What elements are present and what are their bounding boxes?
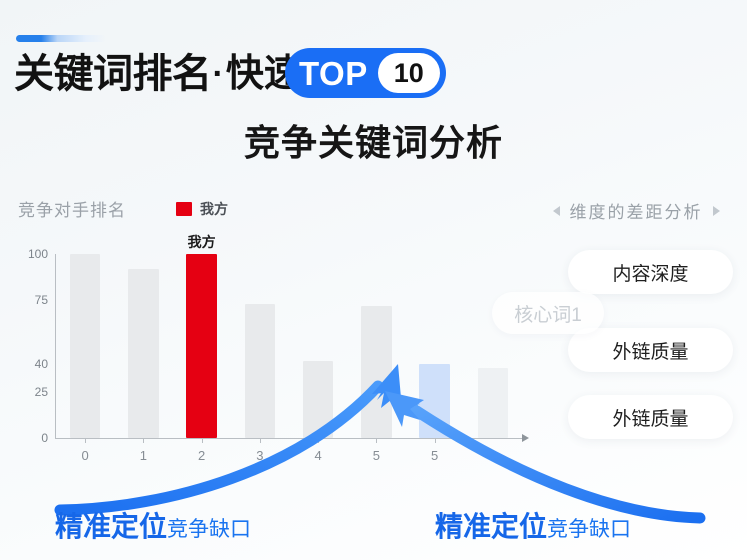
header-title-row: 关键词排名 · 快速	[14, 46, 302, 102]
caption-right: 精准定位 竞争缺口	[435, 505, 631, 545]
header-title-separator: ·	[213, 55, 224, 94]
dimension-pill-label: 外链质量	[612, 337, 688, 364]
x-axis-tick	[376, 438, 377, 443]
header-accent-bar	[16, 35, 106, 42]
y-axis-tick-label: 100	[14, 247, 48, 261]
top-badge-number: 10	[378, 53, 440, 93]
legend-item-label: 我方	[200, 199, 228, 219]
caption-left-weak: 竞争缺口	[167, 513, 251, 543]
dimension-pill-backlink-quality-1[interactable]: 外链质量	[568, 328, 733, 372]
chart-bar	[70, 254, 100, 438]
page-title: 竞争关键词分析	[0, 114, 747, 166]
chart-legend: 竞争对手排名 我方	[18, 196, 228, 221]
y-axis-labels: 0254075100	[12, 248, 48, 438]
x-axis-tick	[143, 438, 144, 443]
x-axis-arrow-icon	[522, 434, 529, 442]
dimension-gap-title: 维度的差距分析	[570, 198, 703, 223]
y-axis-tick-label: 40	[14, 357, 48, 371]
chart-bar	[361, 306, 391, 438]
header-title-main: 关键词排名	[14, 54, 212, 94]
y-axis-tick-label: 25	[14, 385, 48, 399]
x-axis-tick-label: 3	[256, 448, 263, 463]
highlighted-bar-label: 我方	[188, 232, 216, 252]
top-badge-label: TOP	[299, 57, 368, 90]
chevron-left-icon	[553, 206, 560, 216]
chart-bar	[186, 254, 216, 438]
x-axis-tick-label: 1	[140, 448, 147, 463]
x-axis-tick-label: 4	[315, 448, 322, 463]
caption-left-strong: 精准定位	[55, 505, 167, 545]
chart-bars	[56, 254, 522, 438]
chart-legend-title: 竞争对手排名	[18, 196, 126, 221]
core-keyword-label: 核心词1	[514, 300, 582, 327]
x-axis-line	[55, 438, 525, 439]
dimension-pill-backlink-quality-2[interactable]: 外链质量	[568, 395, 733, 439]
dimension-pill-label: 内容深度	[612, 259, 688, 286]
chart-bar	[128, 269, 158, 438]
caption-right-weak: 竞争缺口	[547, 513, 631, 543]
y-axis-tick-label: 75	[14, 293, 48, 307]
x-axis-tick-label: 5	[431, 448, 438, 463]
caption-right-strong: 精准定位	[435, 505, 547, 545]
chart-bar	[303, 361, 333, 438]
legend-item-mine: 我方	[176, 199, 228, 219]
x-axis-tick	[318, 438, 319, 443]
x-axis-tick	[202, 438, 203, 443]
dimension-pill-content-depth[interactable]: 内容深度	[568, 250, 733, 294]
chevron-right-icon	[713, 206, 720, 216]
y-axis-tick-label: 0	[14, 431, 48, 445]
x-axis-tick	[435, 438, 436, 443]
x-axis-tick-label: 5	[373, 448, 380, 463]
dimension-pill-label: 外链质量	[612, 404, 688, 431]
x-axis-tick-label: 0	[82, 448, 89, 463]
x-axis-tick-label: 2	[198, 448, 205, 463]
chart-bar	[478, 368, 508, 438]
dimension-gap-header: 维度的差距分析	[531, 198, 741, 223]
x-axis-tick	[260, 438, 261, 443]
top-rank-badge: TOP 10	[285, 48, 446, 98]
chart-bar	[419, 364, 449, 438]
caption-left: 精准定位 竞争缺口	[55, 505, 251, 545]
legend-swatch-icon	[176, 202, 192, 216]
x-axis-tick	[85, 438, 86, 443]
competitor-rank-bar-chart: 0254075100 0123455我方	[12, 248, 532, 463]
chart-bar	[245, 304, 275, 438]
core-keyword-ghost-pill[interactable]: 核心词1	[492, 292, 604, 334]
